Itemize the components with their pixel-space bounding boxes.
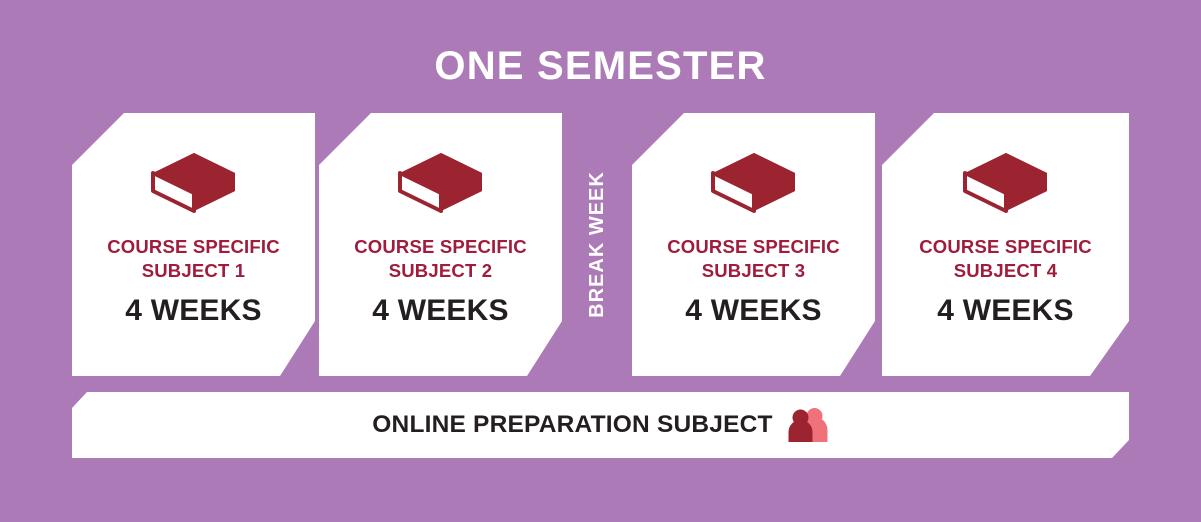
card-content: COURSE SPECIFIC SUBJECT 2 4 WEEKS bbox=[319, 113, 562, 376]
course-card-3[interactable]: COURSE SPECIFIC SUBJECT 3 4 WEEKS bbox=[632, 113, 875, 376]
break-week-divider: BREAK WEEK bbox=[562, 113, 632, 376]
card-subject-label: COURSE SPECIFIC SUBJECT 2 bbox=[354, 235, 527, 283]
book-icon bbox=[151, 151, 237, 213]
card-duration-label: 4 WEEKS bbox=[125, 295, 261, 327]
card-subject-label: COURSE SPECIFIC SUBJECT 4 bbox=[919, 235, 1092, 283]
course-card-4[interactable]: COURSE SPECIFIC SUBJECT 4 4 WEEKS bbox=[882, 113, 1129, 376]
card-content: COURSE SPECIFIC SUBJECT 1 4 WEEKS bbox=[72, 113, 315, 376]
book-icon bbox=[963, 151, 1049, 213]
book-icon bbox=[711, 151, 797, 213]
page-title: ONE SEMESTER bbox=[0, 44, 1201, 88]
course-card-1[interactable]: COURSE SPECIFIC SUBJECT 1 4 WEEKS bbox=[72, 113, 315, 376]
card-subject-label: COURSE SPECIFIC SUBJECT 3 bbox=[667, 235, 840, 283]
card-subject-label: COURSE SPECIFIC SUBJECT 1 bbox=[107, 235, 280, 283]
people-icon bbox=[787, 407, 829, 443]
banner-label: ONLINE PREPARATION SUBJECT bbox=[372, 412, 772, 438]
card-content: COURSE SPECIFIC SUBJECT 3 4 WEEKS bbox=[632, 113, 875, 376]
banner-content: ONLINE PREPARATION SUBJECT bbox=[372, 407, 828, 443]
book-icon bbox=[398, 151, 484, 213]
card-duration-label: 4 WEEKS bbox=[372, 295, 508, 327]
online-preparation-banner[interactable]: ONLINE PREPARATION SUBJECT bbox=[72, 392, 1129, 458]
card-content: COURSE SPECIFIC SUBJECT 4 4 WEEKS bbox=[882, 113, 1129, 376]
course-card-2[interactable]: COURSE SPECIFIC SUBJECT 2 4 WEEKS bbox=[319, 113, 562, 376]
card-duration-label: 4 WEEKS bbox=[937, 295, 1073, 327]
card-duration-label: 4 WEEKS bbox=[685, 295, 821, 327]
break-week-label: BREAK WEEK bbox=[586, 171, 609, 318]
